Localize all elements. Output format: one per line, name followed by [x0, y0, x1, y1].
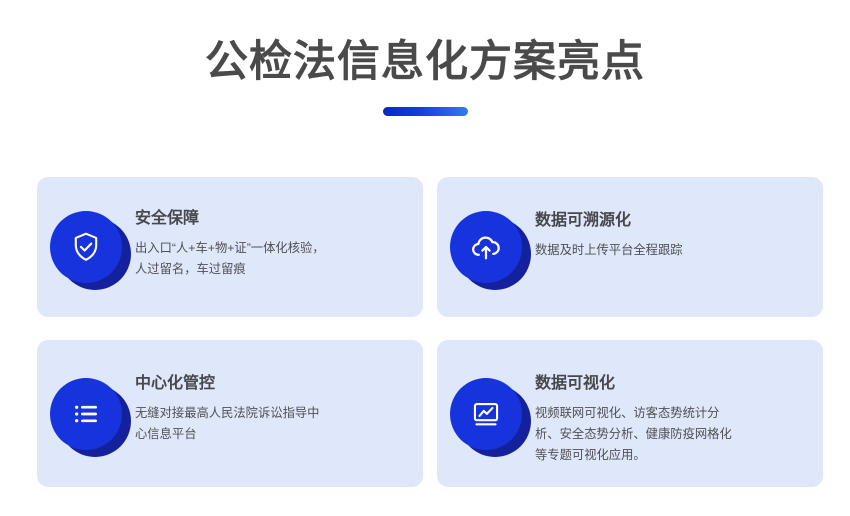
bullet-list-icon	[69, 397, 103, 431]
icon-circle	[450, 378, 522, 450]
card-description: 数据及时上传平台全程跟踪	[535, 240, 755, 261]
title-underline-bar	[383, 107, 468, 116]
card-title: 数据可视化	[535, 374, 807, 393]
feature-card-data-traceability[interactable]: 数据可溯源化 数据及时上传平台全程跟踪	[437, 177, 823, 317]
icon-circle-disc	[50, 211, 122, 283]
icon-circle	[50, 378, 122, 450]
card-icon-wrapper	[37, 177, 135, 317]
feature-card-centralized-control[interactable]: 中心化管控 无缝对接最高人民法院诉讼指导中心信息平台	[37, 340, 423, 487]
card-icon-wrapper	[437, 177, 535, 317]
card-title: 数据可溯源化	[535, 211, 807, 230]
icon-circle-disc	[50, 378, 122, 450]
card-icon-wrapper	[437, 340, 535, 487]
shield-check-icon	[69, 230, 103, 264]
chart-monitor-icon	[469, 397, 503, 431]
icon-circle-disc	[450, 378, 522, 450]
card-text: 安全保障 出入口“人+车+物+证”一体化核验，人过留名，车过留痕	[135, 177, 423, 280]
page-title: 公检法信息化方案亮点	[0, 36, 850, 88]
icon-circle	[450, 211, 522, 283]
feature-card-security[interactable]: 安全保障 出入口“人+车+物+证”一体化核验，人过留名，车过留痕	[37, 177, 423, 317]
card-text: 数据可溯源化 数据及时上传平台全程跟踪	[535, 177, 823, 261]
card-description: 无缝对接最高人民法院诉讼指导中心信息平台	[135, 403, 331, 445]
card-text: 中心化管控 无缝对接最高人民法院诉讼指导中心信息平台	[135, 340, 423, 445]
feature-highlights-page: 公检法信息化方案亮点	[0, 0, 850, 516]
card-title: 中心化管控	[135, 374, 407, 393]
card-description: 出入口“人+车+物+证”一体化核验，人过留名，车过留痕	[135, 238, 331, 280]
card-icon-wrapper	[37, 340, 135, 487]
card-text: 数据可视化 视频联网可视化、访客态势统计分析、安全态势分析、健康防疫网格化等专题…	[535, 340, 823, 467]
icon-circle	[50, 211, 122, 283]
feature-cards-grid: 安全保障 出入口“人+车+物+证”一体化核验，人过留名，车过留痕	[37, 177, 823, 487]
card-description: 视频联网可视化、访客态势统计分析、安全态势分析、健康防疫网格化等专题可视化应用。	[535, 403, 735, 466]
page-header: 公检法信息化方案亮点	[0, 0, 850, 116]
icon-circle-disc	[450, 211, 522, 283]
feature-card-data-visualization[interactable]: 数据可视化 视频联网可视化、访客态势统计分析、安全态势分析、健康防疫网格化等专题…	[437, 340, 823, 487]
cloud-upload-icon	[468, 229, 504, 265]
card-title: 安全保障	[135, 209, 407, 228]
